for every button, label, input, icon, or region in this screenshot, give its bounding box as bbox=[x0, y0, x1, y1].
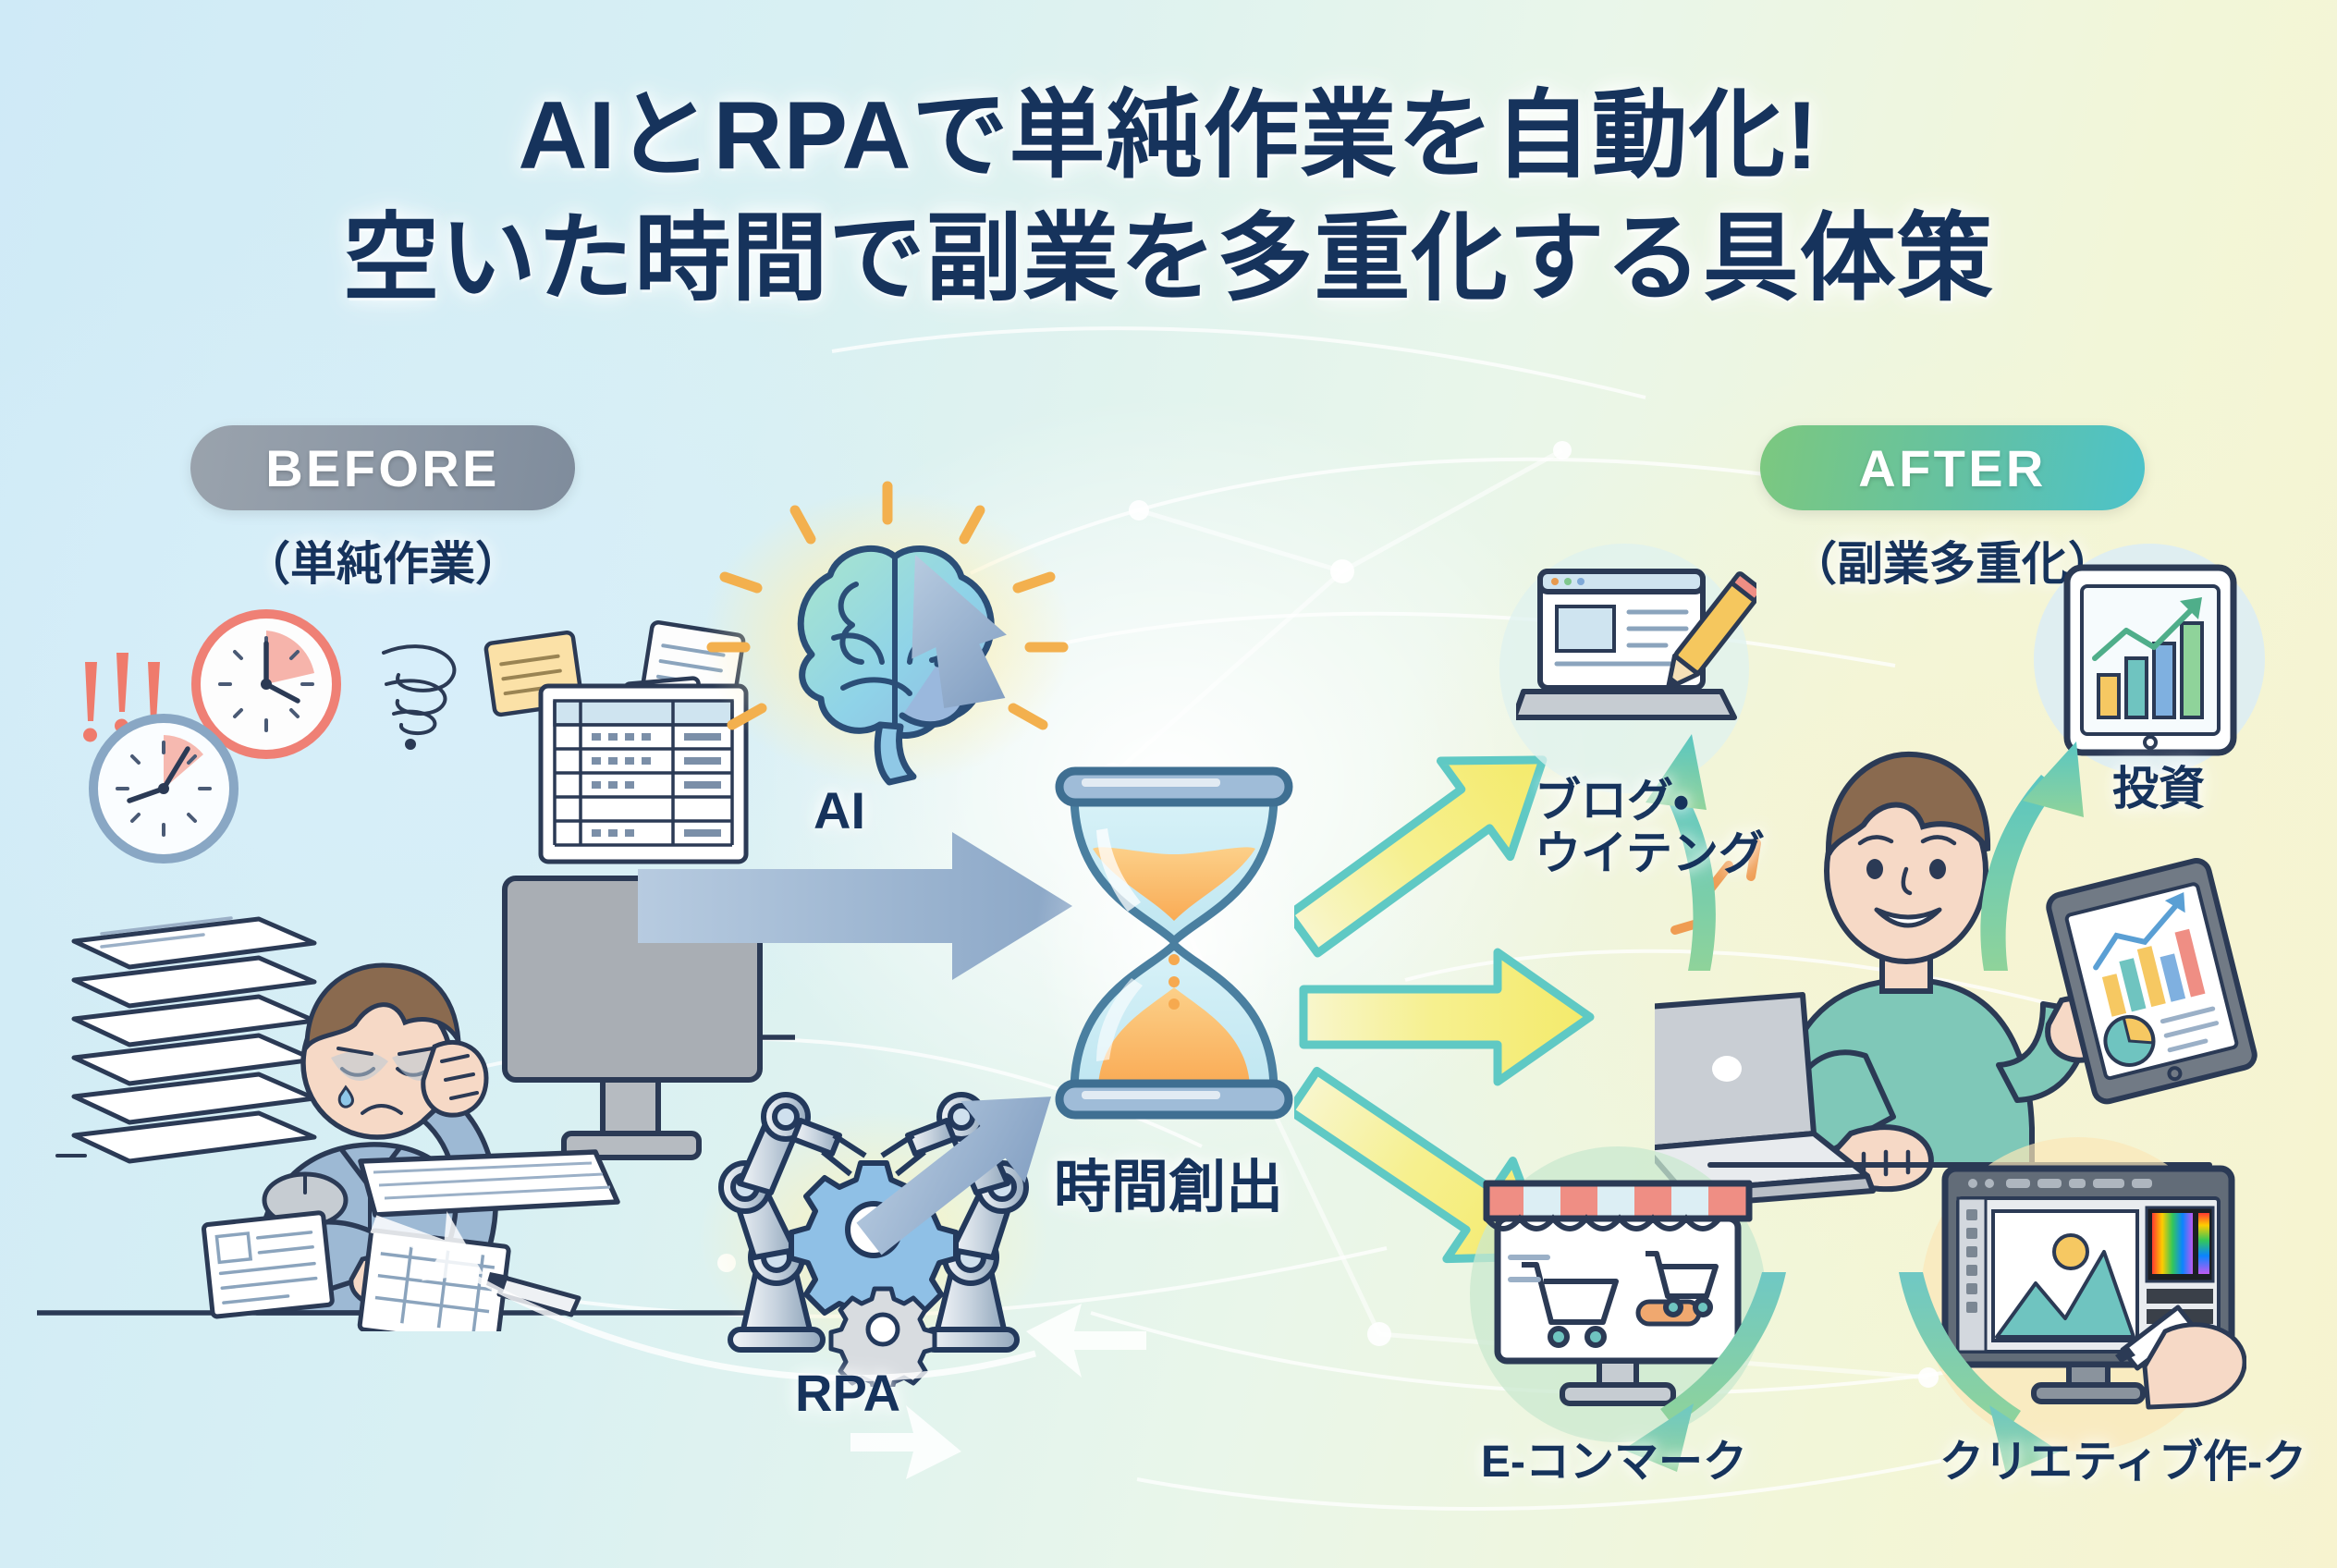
ecommerce-label: E-コンマーク bbox=[1481, 1438, 1747, 1488]
rpa-label: RPA bbox=[795, 1364, 900, 1423]
page-title: AIとRPAで単純作業を自動化! 空いた時間で副業を多重化する具体策 bbox=[0, 80, 2337, 315]
after-badge: AFTER bbox=[1760, 425, 2145, 510]
title-line-1: AIとRPAで単純作業を自動化! bbox=[0, 80, 2337, 193]
time-creation-label: 時間創出 bbox=[1054, 1156, 1283, 1221]
blue-wall-clock-icon bbox=[93, 718, 234, 859]
investment-label: 投資 bbox=[2112, 763, 2205, 815]
arrow-before-to-center bbox=[638, 832, 1072, 980]
paper-stack-icon bbox=[57, 918, 314, 1161]
creative-work-label: クリエティブ作-ク bbox=[1939, 1438, 2306, 1488]
before-badge: BEFORE bbox=[190, 425, 575, 510]
title-line-2: 空いた時間で副業を多重化する具体策 bbox=[0, 202, 2337, 316]
arrow-ai-to-time bbox=[895, 555, 1023, 717]
arrow-to-invest bbox=[1980, 741, 2084, 971]
hourglass-icon bbox=[1035, 740, 1313, 1146]
red-wall-clock-icon bbox=[196, 614, 336, 754]
ai-label: AI bbox=[814, 781, 865, 840]
blog-writing-label: ブログ・ ウイテング bbox=[1535, 775, 1765, 880]
return-arrows bbox=[259, 1156, 1183, 1544]
spiral-dizzy-icon bbox=[384, 646, 454, 750]
infographic-canvas: AIとRPAで単純作業を自動化! 空いた時間で副業を多重化する具体策 BEFOR… bbox=[0, 0, 2337, 1568]
